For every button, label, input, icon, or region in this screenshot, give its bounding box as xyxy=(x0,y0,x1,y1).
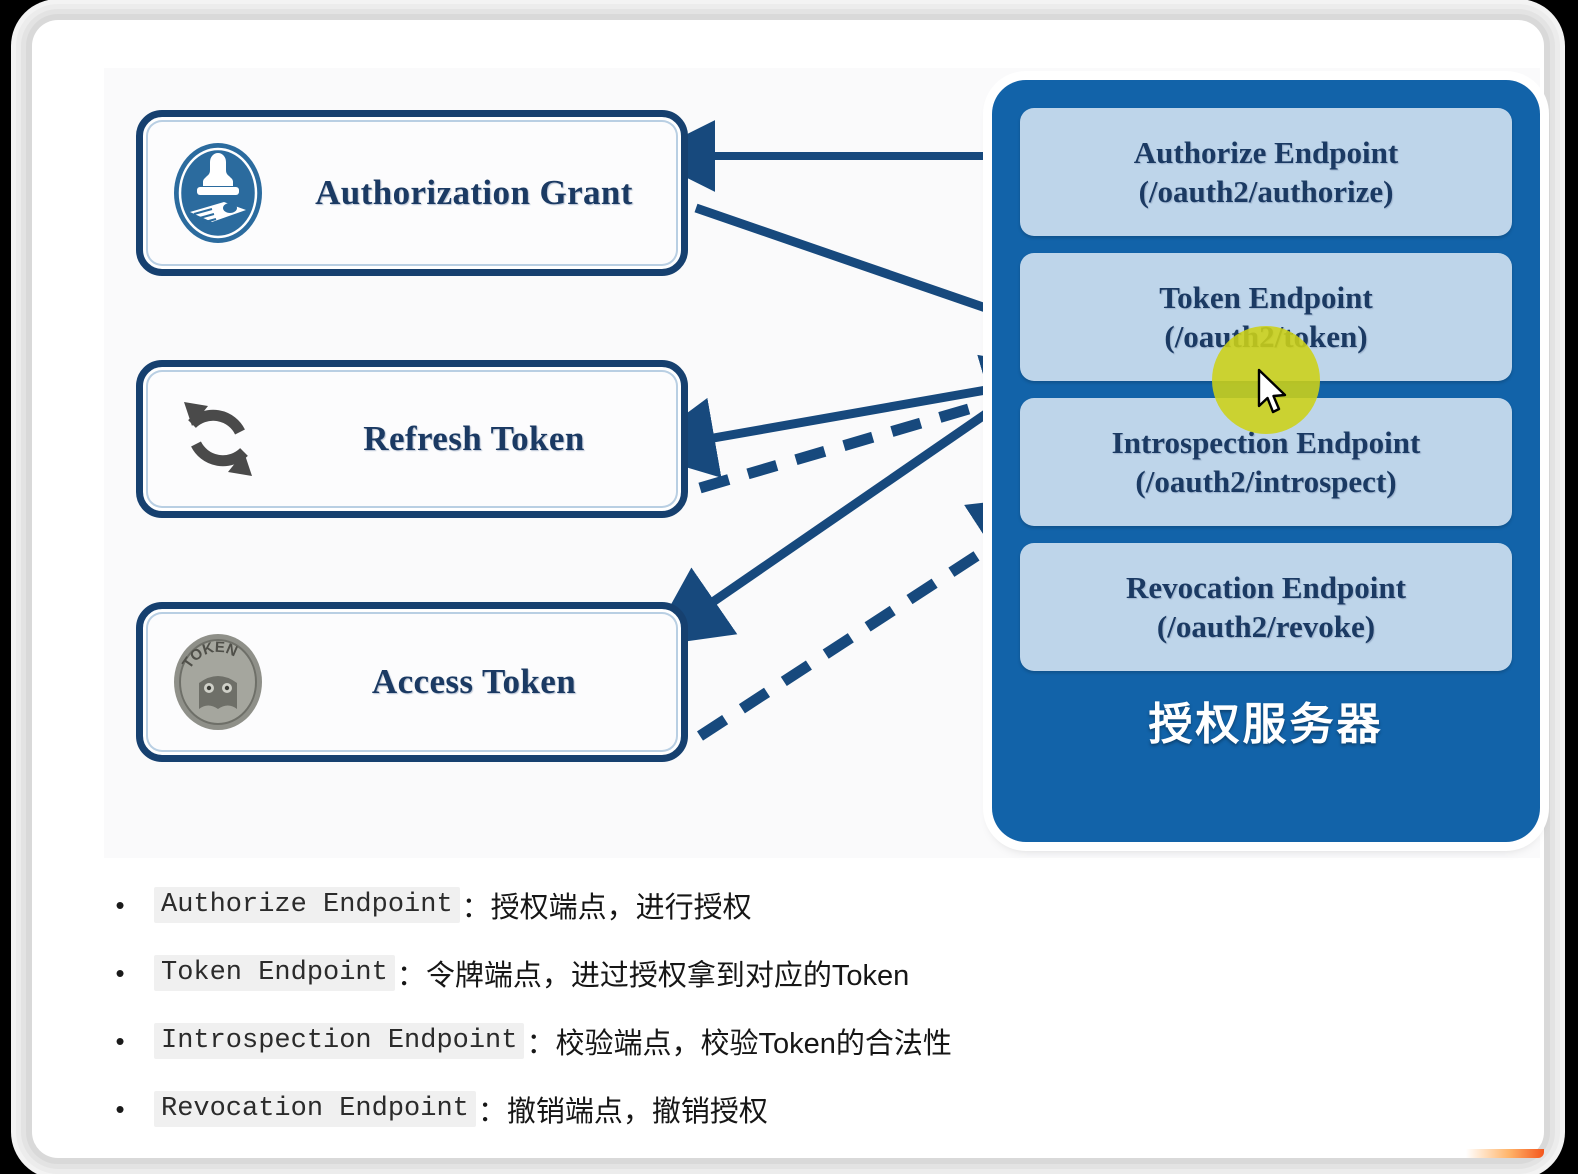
slide-card: Authorization Grant Refresh Token xyxy=(32,20,1544,1158)
authorize-endpoint-name: Authorize Endpoint xyxy=(1134,133,1398,172)
bullet-marker: • xyxy=(108,1028,132,1054)
authorization-server-panel: Authorize Endpoint (/oauth2/authorize) T… xyxy=(992,80,1540,842)
refresh-arrows-icon xyxy=(143,390,293,488)
authorize-endpoint-card[interactable]: Authorize Endpoint (/oauth2/authorize) xyxy=(1020,108,1512,236)
access-token-label: Access Token xyxy=(293,662,681,702)
note-text-authorize: ：授权端点，进行授权 xyxy=(462,884,752,926)
stamp-icon xyxy=(143,140,293,246)
access-token-box[interactable]: TOKEN Access Token xyxy=(136,602,688,762)
list-item: • Introspection Endpoint ：校验端点，校验Token的合… xyxy=(108,1022,1488,1060)
arrow-token-to-access xyxy=(704,398,1009,608)
arrow-access-to-introspection-dashed xyxy=(700,538,1004,736)
revocation-endpoint-path: (/oauth2/revoke) xyxy=(1157,607,1375,646)
authorization-grant-box[interactable]: Authorization Grant xyxy=(136,110,688,276)
note-text-revocation: ：撤销端点，撤销授权 xyxy=(478,1088,768,1130)
token-coin-icon: TOKEN xyxy=(143,628,293,736)
refresh-token-box[interactable]: Refresh Token xyxy=(136,360,688,518)
token-endpoint-name: Token Endpoint xyxy=(1159,278,1372,317)
authorization-grant-label: Authorization Grant xyxy=(293,173,681,213)
bullet-marker: • xyxy=(108,960,132,986)
list-item: • Authorize Endpoint ：授权端点，进行授权 xyxy=(108,886,1488,924)
list-item: • Revocation Endpoint ：撤销端点，撤销授权 xyxy=(108,1090,1488,1128)
authorization-server-title: 授权服务器 xyxy=(1020,688,1512,752)
authorize-endpoint-path: (/oauth2/authorize) xyxy=(1139,172,1394,211)
bullet-marker: • xyxy=(108,1096,132,1122)
revocation-endpoint-card[interactable]: Revocation Endpoint (/oauth2/revoke) xyxy=(1020,543,1512,671)
revocation-endpoint-name: Revocation Endpoint xyxy=(1126,568,1406,607)
bullet-marker: • xyxy=(108,892,132,918)
edge-artifact xyxy=(1466,1149,1544,1158)
arrow-token-to-refresh xyxy=(702,386,1009,440)
note-text-token: ：令牌端点，进过授权拿到对应的Token xyxy=(397,952,909,994)
note-code-token: Token Endpoint xyxy=(154,955,395,991)
arrow-refresh-to-token-dashed xyxy=(700,398,1006,488)
endpoint-notes-list: • Authorize Endpoint ：授权端点，进行授权 • Token … xyxy=(108,886,1488,1158)
note-text-introspection: ：校验端点，校验Token的合法性 xyxy=(526,1020,951,1062)
note-code-revocation: Revocation Endpoint xyxy=(154,1091,476,1127)
refresh-token-label: Refresh Token xyxy=(293,419,681,459)
mouse-cursor-icon xyxy=(1256,368,1290,416)
arrow-grant-to-token xyxy=(696,208,1009,316)
note-code-authorize: Authorize Endpoint xyxy=(154,887,460,923)
list-item: • Token Endpoint ：令牌端点，进过授权拿到对应的Token xyxy=(108,954,1488,992)
introspection-endpoint-path: (/oauth2/introspect) xyxy=(1135,462,1396,501)
oauth2-endpoint-diagram: Authorization Grant Refresh Token xyxy=(104,68,1540,858)
note-code-introspection: Introspection Endpoint xyxy=(154,1023,524,1059)
